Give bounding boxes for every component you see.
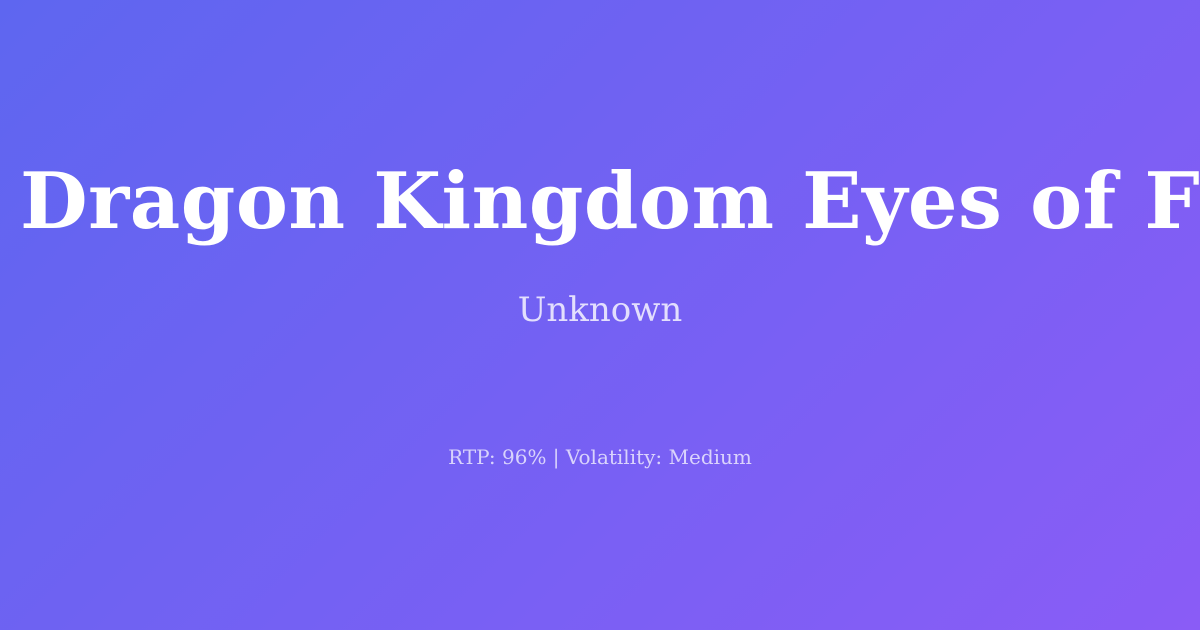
- game-stats-line: RTP: 96% | Volatility: Medium: [448, 327, 752, 467]
- page-title: Dragon Kingdom Eyes of Fire: [0, 163, 1200, 241]
- card-subtitle: Unknown: [518, 241, 683, 327]
- og-share-card: Dragon Kingdom Eyes of Fire Unknown RTP:…: [0, 0, 1200, 630]
